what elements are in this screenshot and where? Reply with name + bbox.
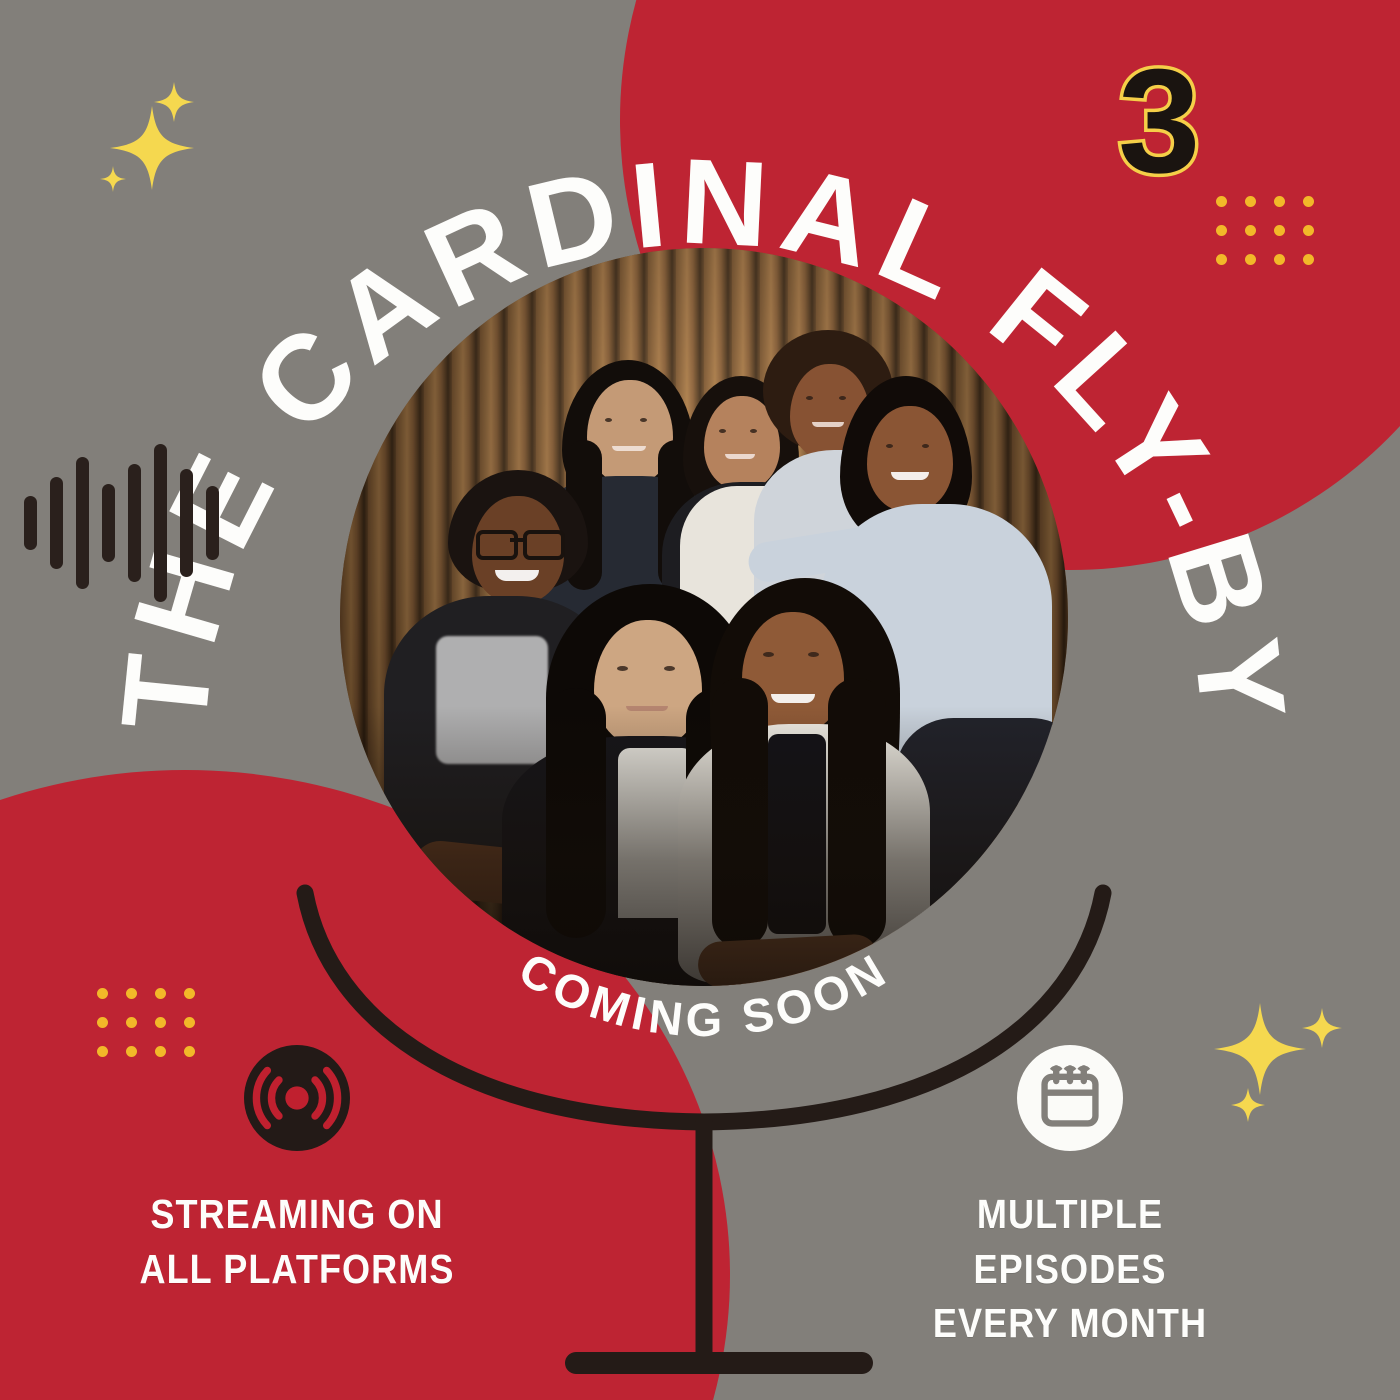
feature-episodes: MULTIPLE EPISODES EVERY MONTH — [860, 1045, 1280, 1351]
broadcast-icon — [244, 1045, 350, 1151]
feature-episodes-line1: MULTIPLE EPISODES — [885, 1187, 1255, 1296]
feature-streaming-line1: STREAMING ON — [112, 1187, 482, 1242]
feature-streaming: STREAMING ON ALL PLATFORMS — [87, 1045, 507, 1296]
sparkle-large-icon — [110, 106, 194, 190]
sparkle-small-right-icon — [1302, 1008, 1342, 1048]
coming-soon-text: COMING SOON — [510, 942, 897, 1046]
feature-episodes-line2: EVERY MONTH — [885, 1296, 1255, 1351]
calendar-icon — [1017, 1045, 1123, 1151]
audio-waveform-icon — [24, 438, 219, 608]
title-text: THE CARDINAL FLY-BY — [95, 132, 1314, 736]
episode-number-badge: 3 — [1118, 48, 1200, 196]
podcast-announcement-poster: THE CARDINAL FLY-BY COMING SOON 3 — [0, 0, 1400, 1400]
dot-grid-top-right — [1216, 196, 1314, 265]
sparkle-small-left-icon — [100, 166, 126, 192]
sparkle-small-top-icon — [154, 82, 194, 122]
sparkle-cluster-top-left — [90, 78, 220, 208]
feature-streaming-line2: ALL PLATFORMS — [112, 1242, 482, 1297]
